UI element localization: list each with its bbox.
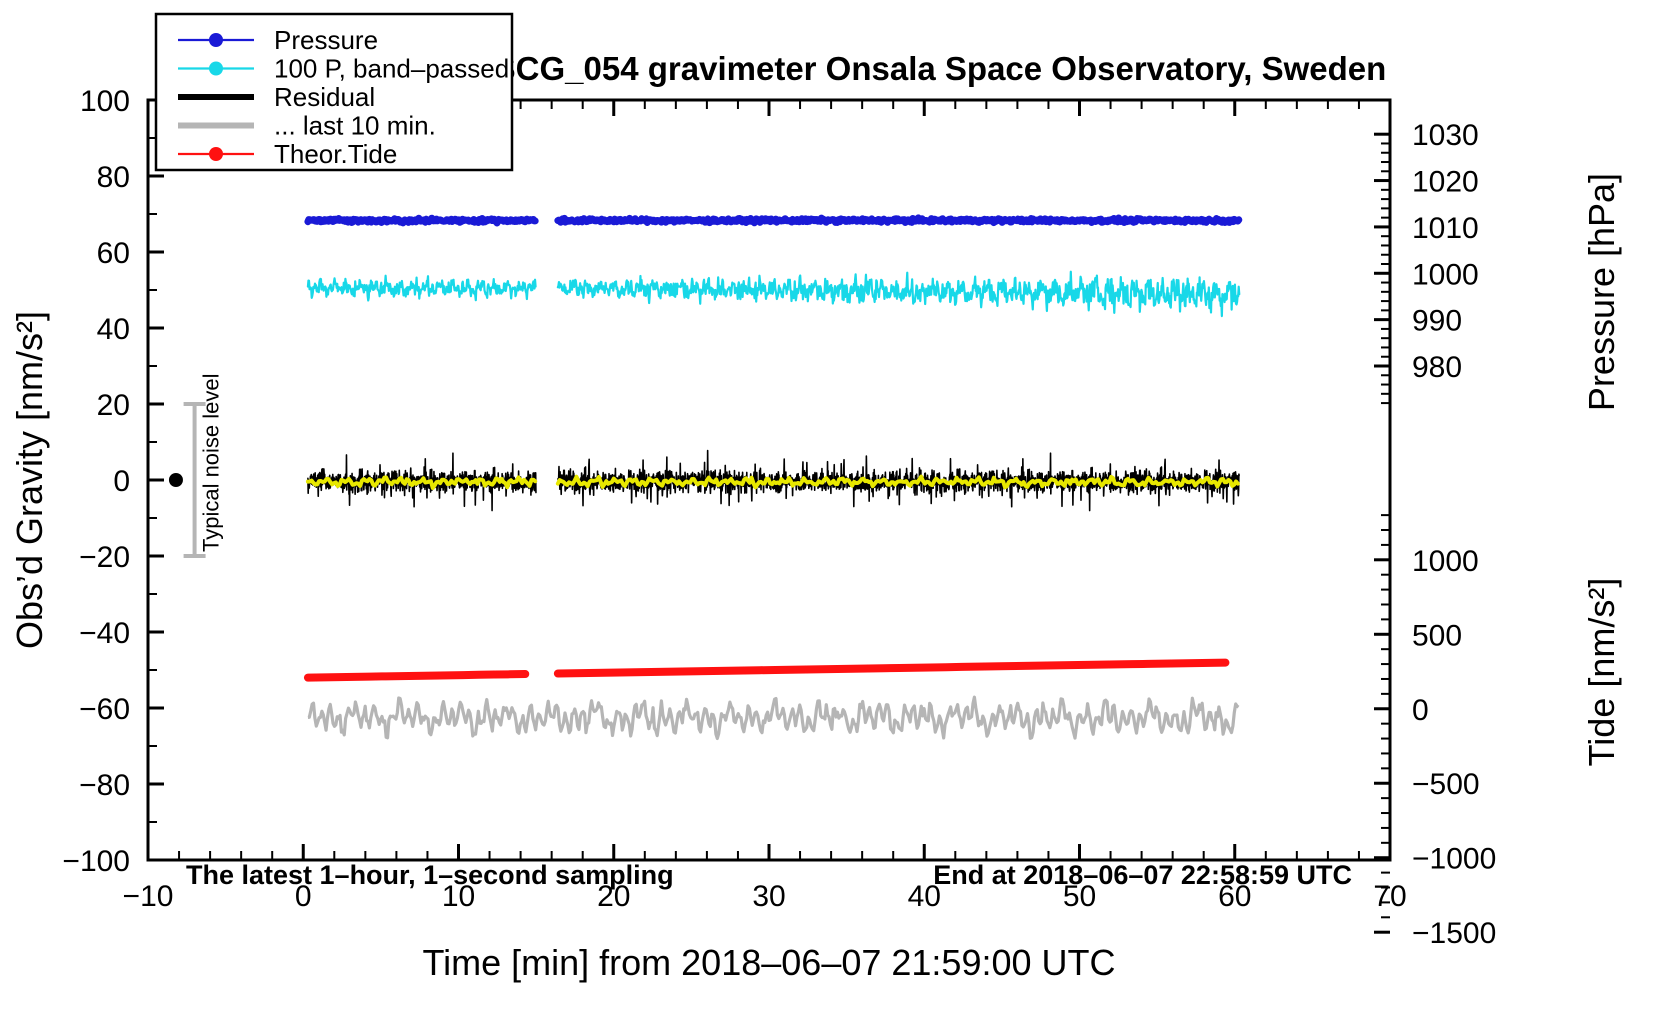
y-axis-title: Obs’d Gravity [nm/s²] [9,311,50,649]
legend[interactable]: Pressure100 P, band–passedResidual... la… [156,14,512,170]
y-tick-label: −100 [62,845,130,878]
y-tick-label: 0 [113,465,130,498]
tide-tick-label: −500 [1412,768,1480,801]
noise-level-label: Typical noise level [199,373,224,552]
y-tick-label: −40 [79,617,130,650]
y-tick-label: 80 [97,161,130,194]
trace-pressure [308,218,535,223]
sampling-note: The latest 1–hour, 1–second sampling [186,860,674,890]
tide-axis-title: Tide [nm/s²] [1581,578,1622,767]
tide-tick-label: 0 [1412,694,1429,727]
trace-pressure [558,218,1239,223]
x-axis-title: Time [min] from 2018–06–07 21:59:00 UTC [422,942,1115,983]
y-tick-label: −80 [79,769,130,802]
legend-swatch-marker [209,33,223,47]
x-tick-label: −10 [123,880,174,913]
x-tick-label: 70 [1373,880,1406,913]
y-tick-label: −60 [79,693,130,726]
noise-center-dot [169,473,183,487]
pressure-tick-label: 990 [1412,305,1462,338]
chart-title: SCG_054 gravimeter Onsala Space Observat… [494,50,1387,87]
pressure-tick-label: 1010 [1412,212,1479,245]
tide-tick-label: −1000 [1412,843,1496,876]
pressure-tick-label: 1000 [1412,258,1479,291]
y-tick-label: −20 [79,541,130,574]
pressure-tick-label: 1020 [1412,166,1479,199]
legend-label: ... last 10 min. [274,111,436,141]
plot-stage: −10010203040506070−100−80−60−40−20020406… [0,0,1660,1020]
legend-swatch-marker [209,62,223,76]
end-time-note: End at 2018–06–07 22:58:59 UTC [933,860,1352,890]
pressure-tick-label: 980 [1412,351,1462,384]
legend-label: 100 P, band–passed [274,54,509,84]
legend-swatch-marker [209,147,223,161]
tide-tick-label: 1000 [1412,545,1479,578]
x-tick-label: 30 [752,880,785,913]
pressure-tick-label: 1030 [1412,119,1479,152]
y-tick-label: 40 [97,313,130,346]
gravimeter-chart: −10010203040506070−100−80−60−40−20020406… [0,0,1660,1020]
tide-tick-label: −1500 [1412,917,1496,950]
trace-theoretical-tide [308,674,525,678]
y-tick-label: 60 [97,237,130,270]
legend-label: Pressure [274,25,378,55]
y-tick-label: 20 [97,389,130,422]
legend-label: Theor.Tide [274,139,397,169]
tide-tick-label: 500 [1412,619,1462,652]
pressure-axis-title: Pressure [hPa] [1581,173,1622,411]
y-tick-label: 100 [80,85,130,118]
legend-label: Residual [274,82,375,112]
